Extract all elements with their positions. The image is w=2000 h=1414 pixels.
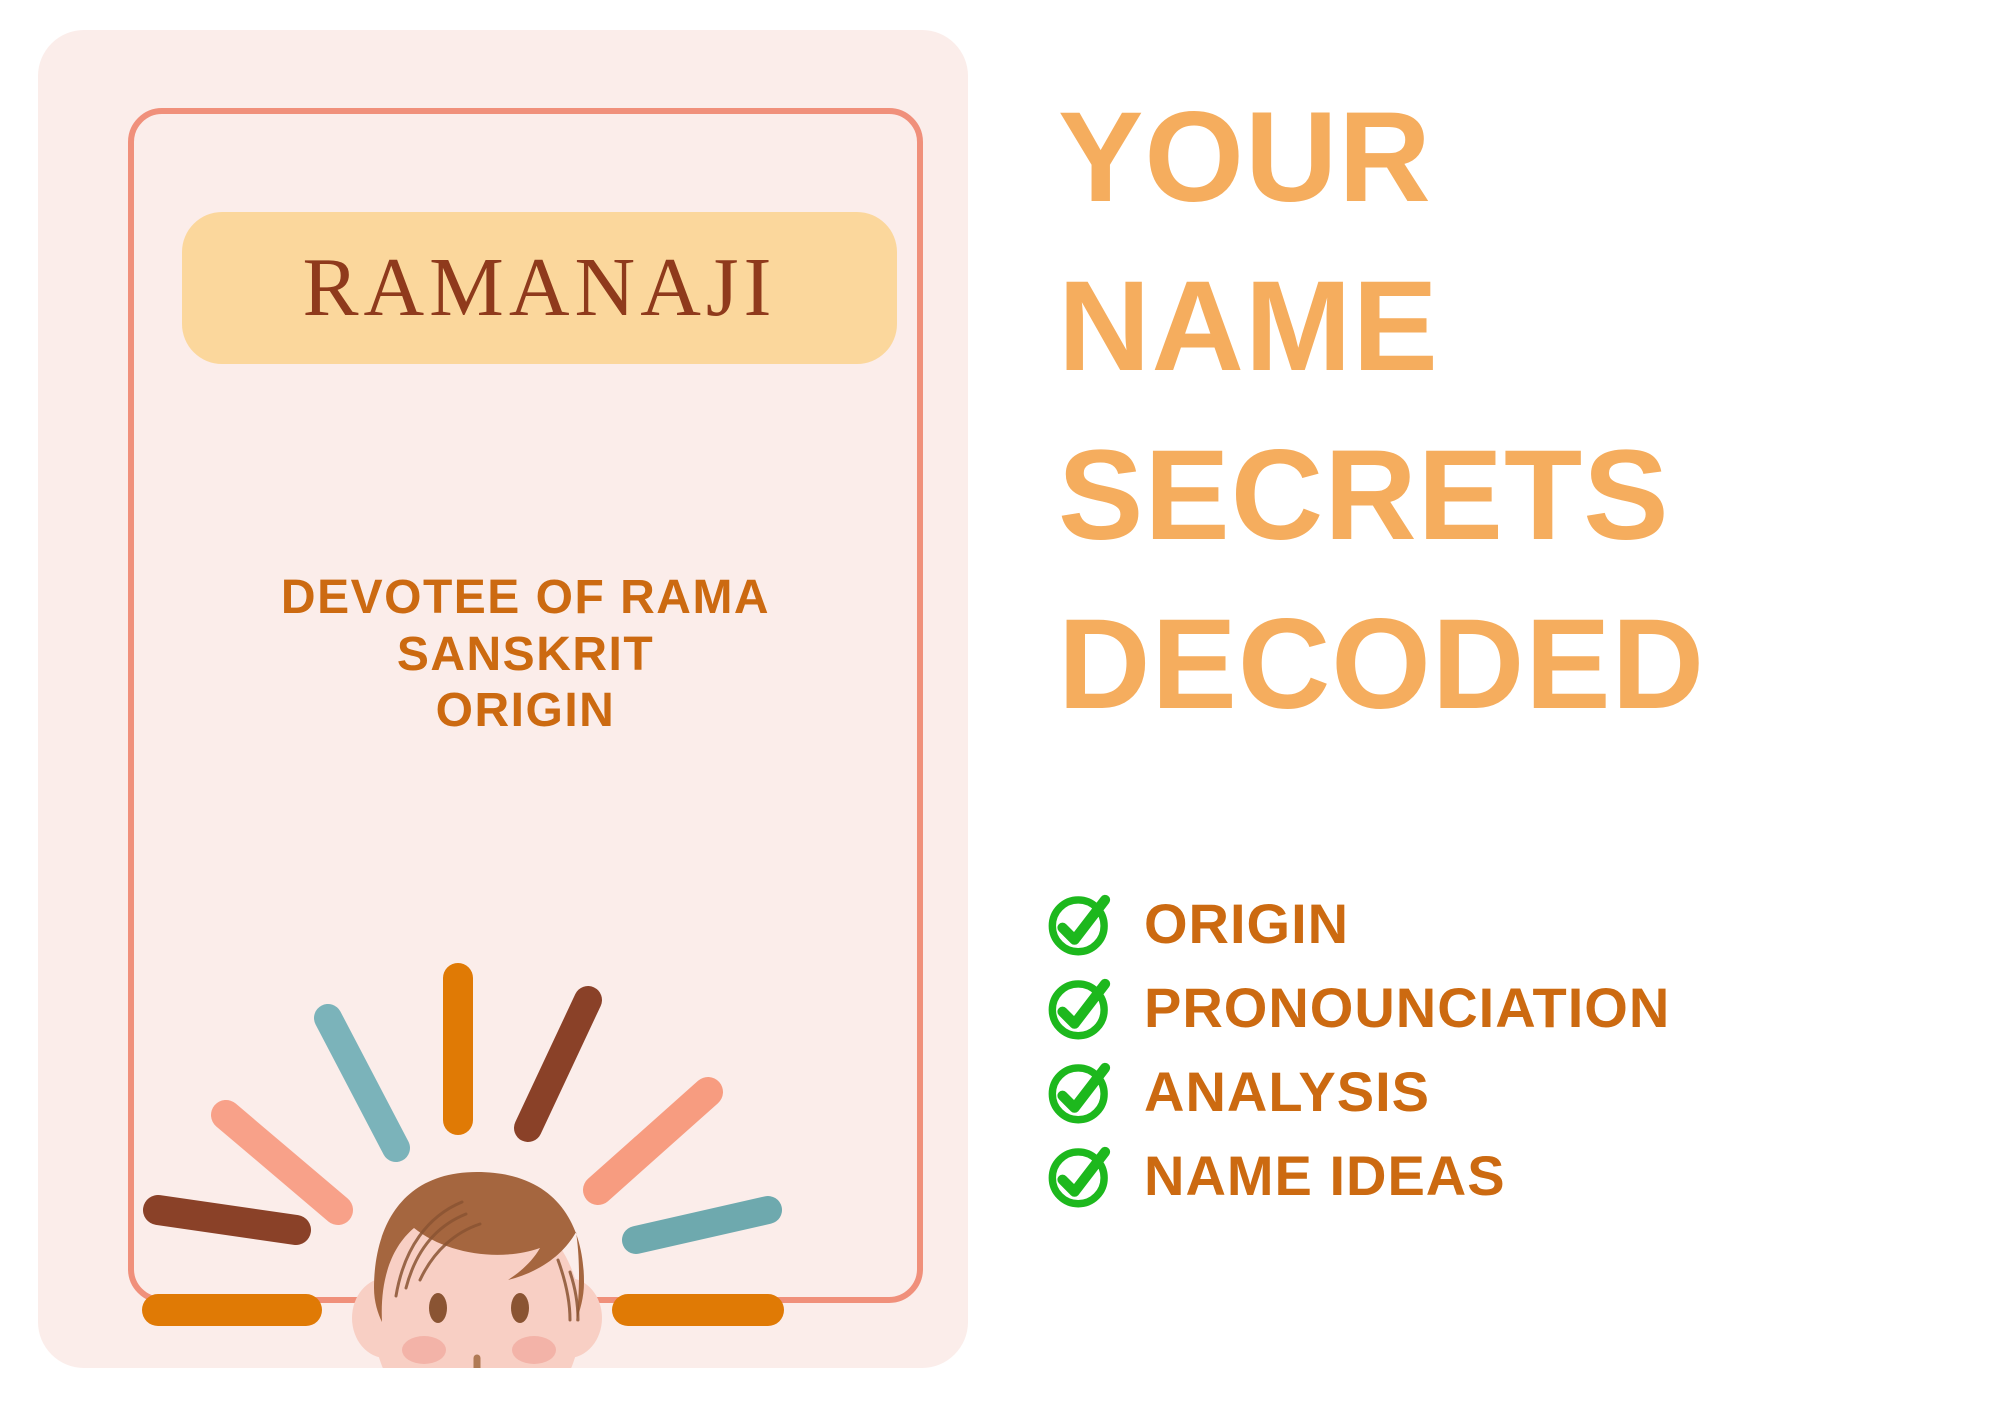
headline-line-your: YOUR bbox=[1058, 74, 1958, 243]
name-meaning-block: DEVOTEE OF RAMA SANSKRIT ORIGIN bbox=[128, 570, 923, 740]
child-sunburst-illustration bbox=[128, 910, 923, 1368]
checklist-item-label: ORIGIN bbox=[1144, 896, 1349, 952]
meaning-line-3: ORIGIN bbox=[128, 683, 923, 740]
name-badge-text: RAMANAJI bbox=[302, 246, 776, 330]
check-circle-icon bbox=[1044, 1139, 1118, 1213]
checklist-item-analysis[interactable]: ANALYSIS bbox=[1044, 1052, 1964, 1132]
meaning-line-2: SANSKRIT bbox=[128, 627, 923, 684]
headline: YOUR NAME SECRETS DECODED bbox=[1058, 74, 1958, 750]
headline-line-decoded: DECODED bbox=[1058, 581, 1958, 750]
checklist-item-origin[interactable]: ORIGIN bbox=[1044, 884, 1964, 964]
face-blush-left bbox=[402, 1336, 446, 1364]
ray-teal-left bbox=[328, 1018, 396, 1148]
ray-right-dark-brown bbox=[528, 1000, 588, 1128]
face-blush-right bbox=[512, 1336, 556, 1364]
headline-line-name: NAME bbox=[1058, 243, 1958, 412]
feature-checklist: ORIGIN PRONOUNCIATION ANALYSIS NAME IDEA… bbox=[1044, 884, 1964, 1220]
checklist-item-label: PRONOUNCIATION bbox=[1144, 980, 1670, 1036]
ray-right-teal bbox=[636, 1210, 768, 1240]
face-eye-right bbox=[511, 1293, 529, 1323]
checklist-item-label: ANALYSIS bbox=[1144, 1064, 1430, 1120]
name-badge: RAMANAJI bbox=[182, 212, 897, 364]
name-card: RAMANAJI DEVOTEE OF RAMA SANSKRIT ORIGIN bbox=[38, 30, 968, 1368]
check-circle-icon bbox=[1044, 1055, 1118, 1129]
ray-left-salmon bbox=[226, 1115, 338, 1210]
check-circle-icon bbox=[1044, 887, 1118, 961]
meaning-line-1: DEVOTEE OF RAMA bbox=[128, 570, 923, 627]
checklist-item-name-ideas[interactable]: NAME IDEAS bbox=[1044, 1136, 1964, 1216]
face-eye-left bbox=[429, 1293, 447, 1323]
ray-right-salmon bbox=[598, 1092, 708, 1190]
ray-left-dark-brown bbox=[158, 1210, 296, 1230]
headline-line-secrets: SECRETS bbox=[1058, 412, 1958, 581]
check-circle-icon bbox=[1044, 971, 1118, 1045]
checklist-item-label: NAME IDEAS bbox=[1144, 1148, 1506, 1204]
checklist-item-pronounciation[interactable]: PRONOUNCIATION bbox=[1044, 968, 1964, 1048]
